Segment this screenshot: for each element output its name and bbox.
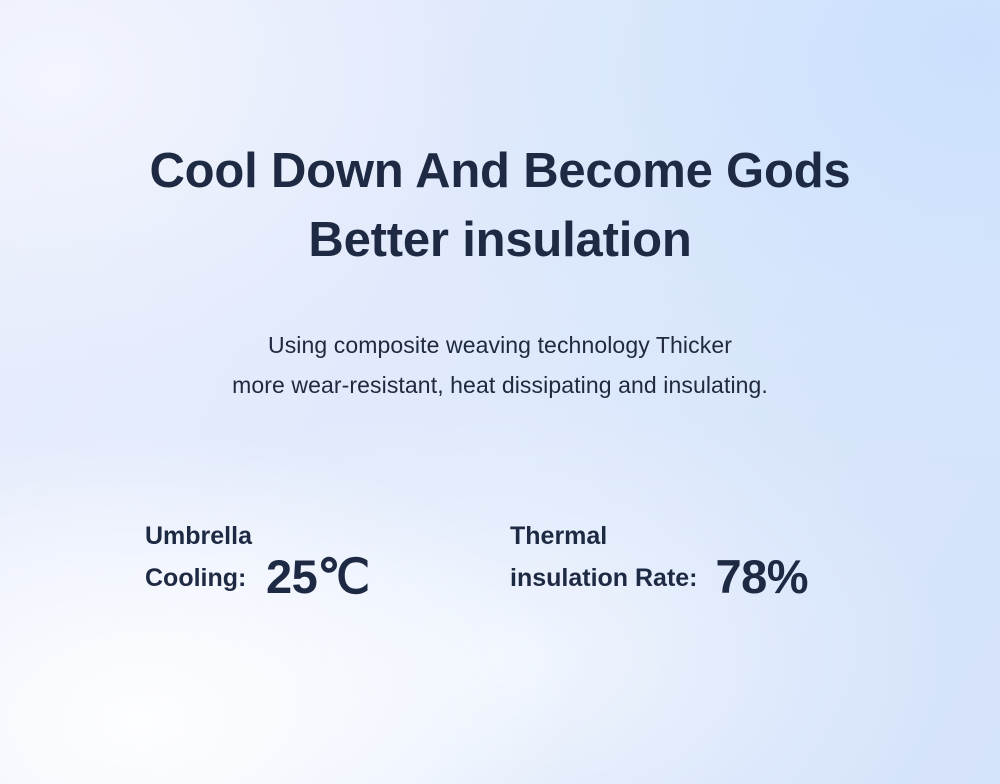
- stat-umbrella-cooling: Umbrella Cooling: 25℃: [145, 515, 370, 603]
- headline-line-2: Better insulation: [0, 206, 1000, 275]
- stat-umbrella-cooling-label-line-1: Umbrella: [145, 515, 252, 557]
- stat-umbrella-cooling-label: Umbrella Cooling:: [145, 515, 252, 603]
- stat-thermal-insulation-rate-label-line-2: insulation Rate:: [510, 557, 698, 599]
- stat-thermal-insulation-rate: Thermal insulation Rate: 78%: [510, 515, 808, 603]
- stat-thermal-insulation-rate-label-line-1: Thermal: [510, 515, 698, 557]
- stat-umbrella-cooling-value: 25℃: [266, 551, 370, 603]
- banner-content: Cool Down And Become Gods Better insulat…: [0, 0, 1000, 784]
- headline: Cool Down And Become Gods Better insulat…: [0, 137, 1000, 275]
- stats-row: Umbrella Cooling: 25℃ Thermal insulation…: [0, 515, 1000, 615]
- subtitle-line-2: more wear-resistant, heat dissipating an…: [0, 365, 1000, 405]
- subtitle: Using composite weaving technology Thick…: [0, 325, 1000, 405]
- subtitle-line-1: Using composite weaving technology Thick…: [0, 325, 1000, 365]
- stat-umbrella-cooling-label-line-2: Cooling:: [145, 557, 252, 599]
- stat-thermal-insulation-rate-value: 78%: [716, 551, 809, 603]
- promo-banner: Cool Down And Become Gods Better insulat…: [0, 0, 1000, 784]
- stat-thermal-insulation-rate-label: Thermal insulation Rate:: [510, 515, 698, 603]
- headline-line-1: Cool Down And Become Gods: [0, 137, 1000, 206]
